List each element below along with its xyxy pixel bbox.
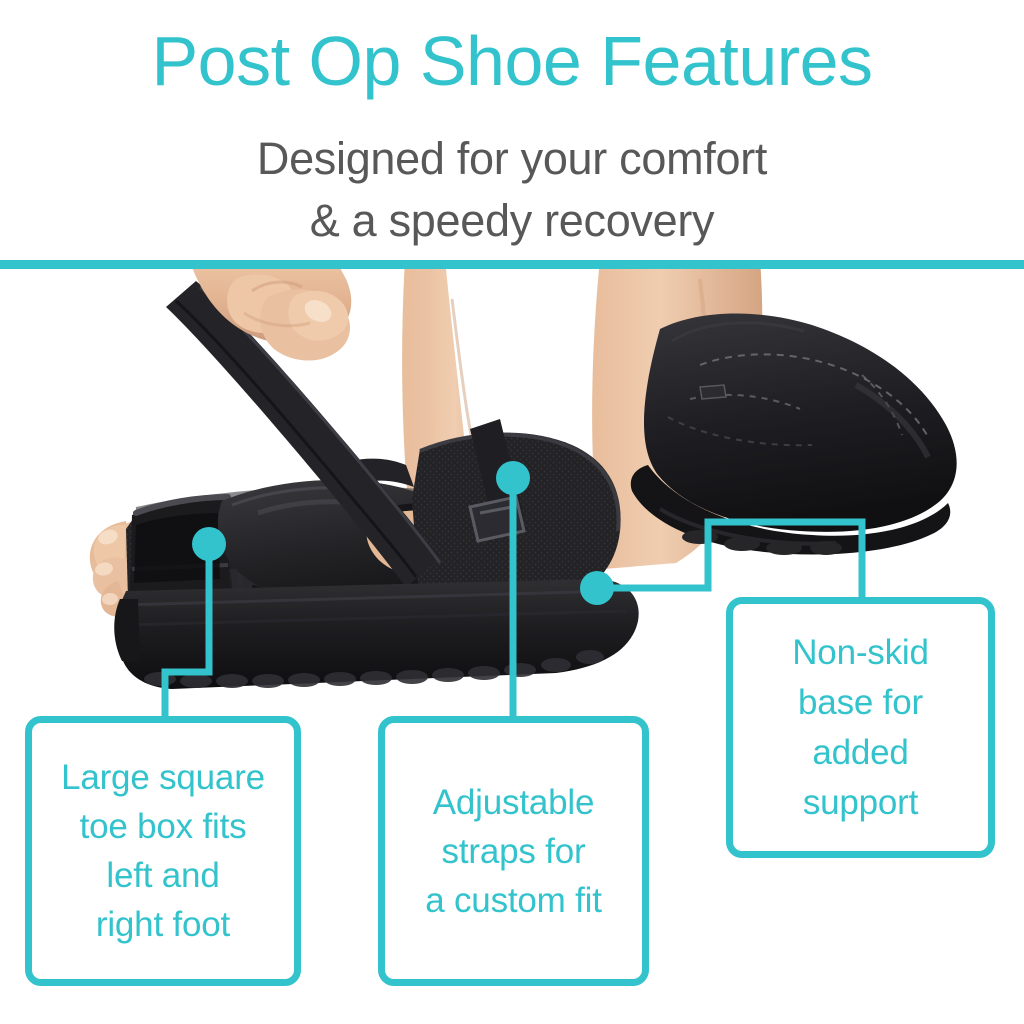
header-divider	[0, 260, 1024, 269]
callout-text-straps: Adjustable straps for a custom fit	[415, 778, 612, 925]
callout-box-straps[interactable]: Adjustable straps for a custom fit	[378, 716, 649, 986]
page-title: Post Op Shoe Features	[0, 22, 1024, 100]
callout-box-toe-box[interactable]: Large square toe box fits left and right…	[25, 716, 301, 986]
page-subtitle: Designed for your comfort & a speedy rec…	[0, 128, 1024, 252]
header: Post Op Shoe Features Designed for your …	[0, 0, 1024, 262]
subtitle-line-1: Designed for your comfort	[0, 128, 1024, 190]
callout-text-toe-box: Large square toe box fits left and right…	[51, 753, 275, 949]
callout-text-base: Non-skid base for added support	[782, 628, 939, 828]
infographic-page: Post Op Shoe Features Designed for your …	[0, 0, 1024, 1024]
callout-box-base[interactable]: Non-skid base for added support	[726, 597, 995, 858]
subtitle-line-2: & a speedy recovery	[0, 190, 1024, 252]
